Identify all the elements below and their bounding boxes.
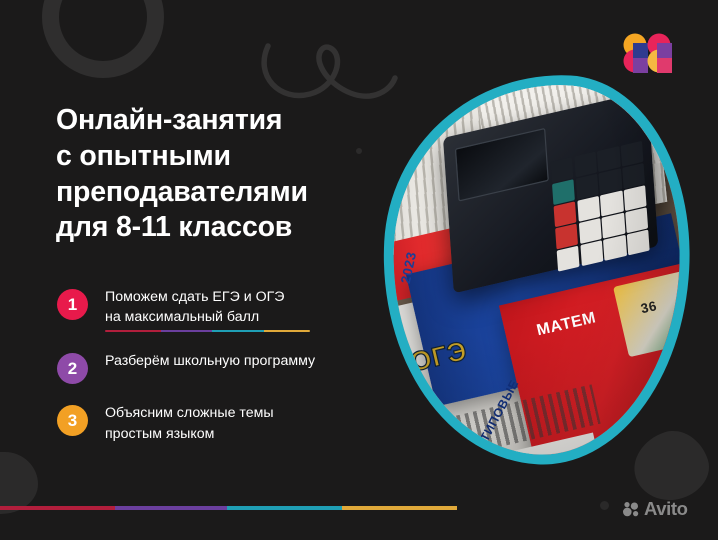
benefit-1-line-1: Поможем сдать ЕГЭ и ОГЭ — [105, 287, 310, 307]
benefit-underline-bar — [105, 330, 310, 333]
benefit-text-1: Поможем сдать ЕГЭ и ОГЭ на максимальный … — [105, 287, 310, 328]
benefit-badge-3: 3 — [57, 405, 88, 436]
benefit-item-1: 1 Поможем сдать ЕГЭ и ОГЭ на максимальны… — [57, 287, 387, 332]
bottom-bar-segment-1 — [0, 506, 115, 510]
benefit-3-line-1: Объясним сложные темы — [105, 403, 274, 423]
hero-photo: МАТЕМ 2023 36 ФИЗИКА ОГЭ ТИПОВЫЕ — [383, 74, 689, 464]
decorative-ring — [42, 0, 164, 78]
benefits-list: 1 Поможем сдать ЕГЭ и ОГЭ на максимальны… — [57, 287, 387, 444]
headline-line-4: для 8-11 классов — [56, 210, 386, 246]
avito-watermark: Avito — [623, 500, 688, 519]
headline-line-3: преподавателями — [56, 175, 386, 211]
avito-watermark-text: Avito — [644, 500, 688, 519]
brand-logo-icon — [622, 32, 674, 74]
decorative-blob-left — [0, 452, 38, 514]
benefit-badge-2: 2 — [57, 353, 88, 384]
headline: Онлайн-занятия с опытными преподавателям… — [56, 103, 386, 246]
advertisement-banner: Онлайн-занятия с опытными преподавателям… — [0, 0, 718, 540]
bottom-bar-segment-2 — [115, 506, 227, 510]
benefit-text-3: Объясним сложные темы простым языком — [105, 403, 274, 444]
underline-segment-1 — [105, 330, 161, 333]
photo-calculator-keys — [551, 140, 650, 271]
photo-clip: МАТЕМ 2023 36 ФИЗИКА ОГЭ ТИПОВЫЕ — [384, 77, 689, 461]
benefit-2-line-1: Разберём школьную программу — [105, 351, 315, 371]
bottom-bar-segment-3 — [227, 506, 342, 510]
underline-segment-2 — [161, 330, 212, 333]
underline-segment-4 — [264, 330, 310, 333]
benefit-badge-1: 1 — [57, 289, 88, 320]
avito-logo-icon — [623, 502, 640, 517]
benefit-1-line-2: на максимальный балл — [105, 307, 310, 327]
headline-line-1: Онлайн-занятия — [56, 103, 386, 139]
photo-illustration: МАТЕМ 2023 36 ФИЗИКА ОГЭ ТИПОВЫЕ — [384, 77, 689, 461]
headline-line-2: с опытными — [56, 139, 386, 175]
bottom-bar-segment-4 — [342, 506, 457, 510]
benefit-text-2: Разберём школьную программу — [105, 351, 315, 371]
benefit-3-line-2: простым языком — [105, 424, 274, 444]
benefit-item-2: 2 Разберём школьную программу — [57, 351, 387, 384]
benefit-item-3: 3 Объясним сложные темы простым языком — [57, 403, 387, 444]
decorative-squiggle-icon — [258, 28, 398, 108]
decorative-dot-small — [600, 501, 609, 510]
bottom-color-bar — [0, 506, 457, 510]
underline-segment-3 — [212, 330, 263, 333]
